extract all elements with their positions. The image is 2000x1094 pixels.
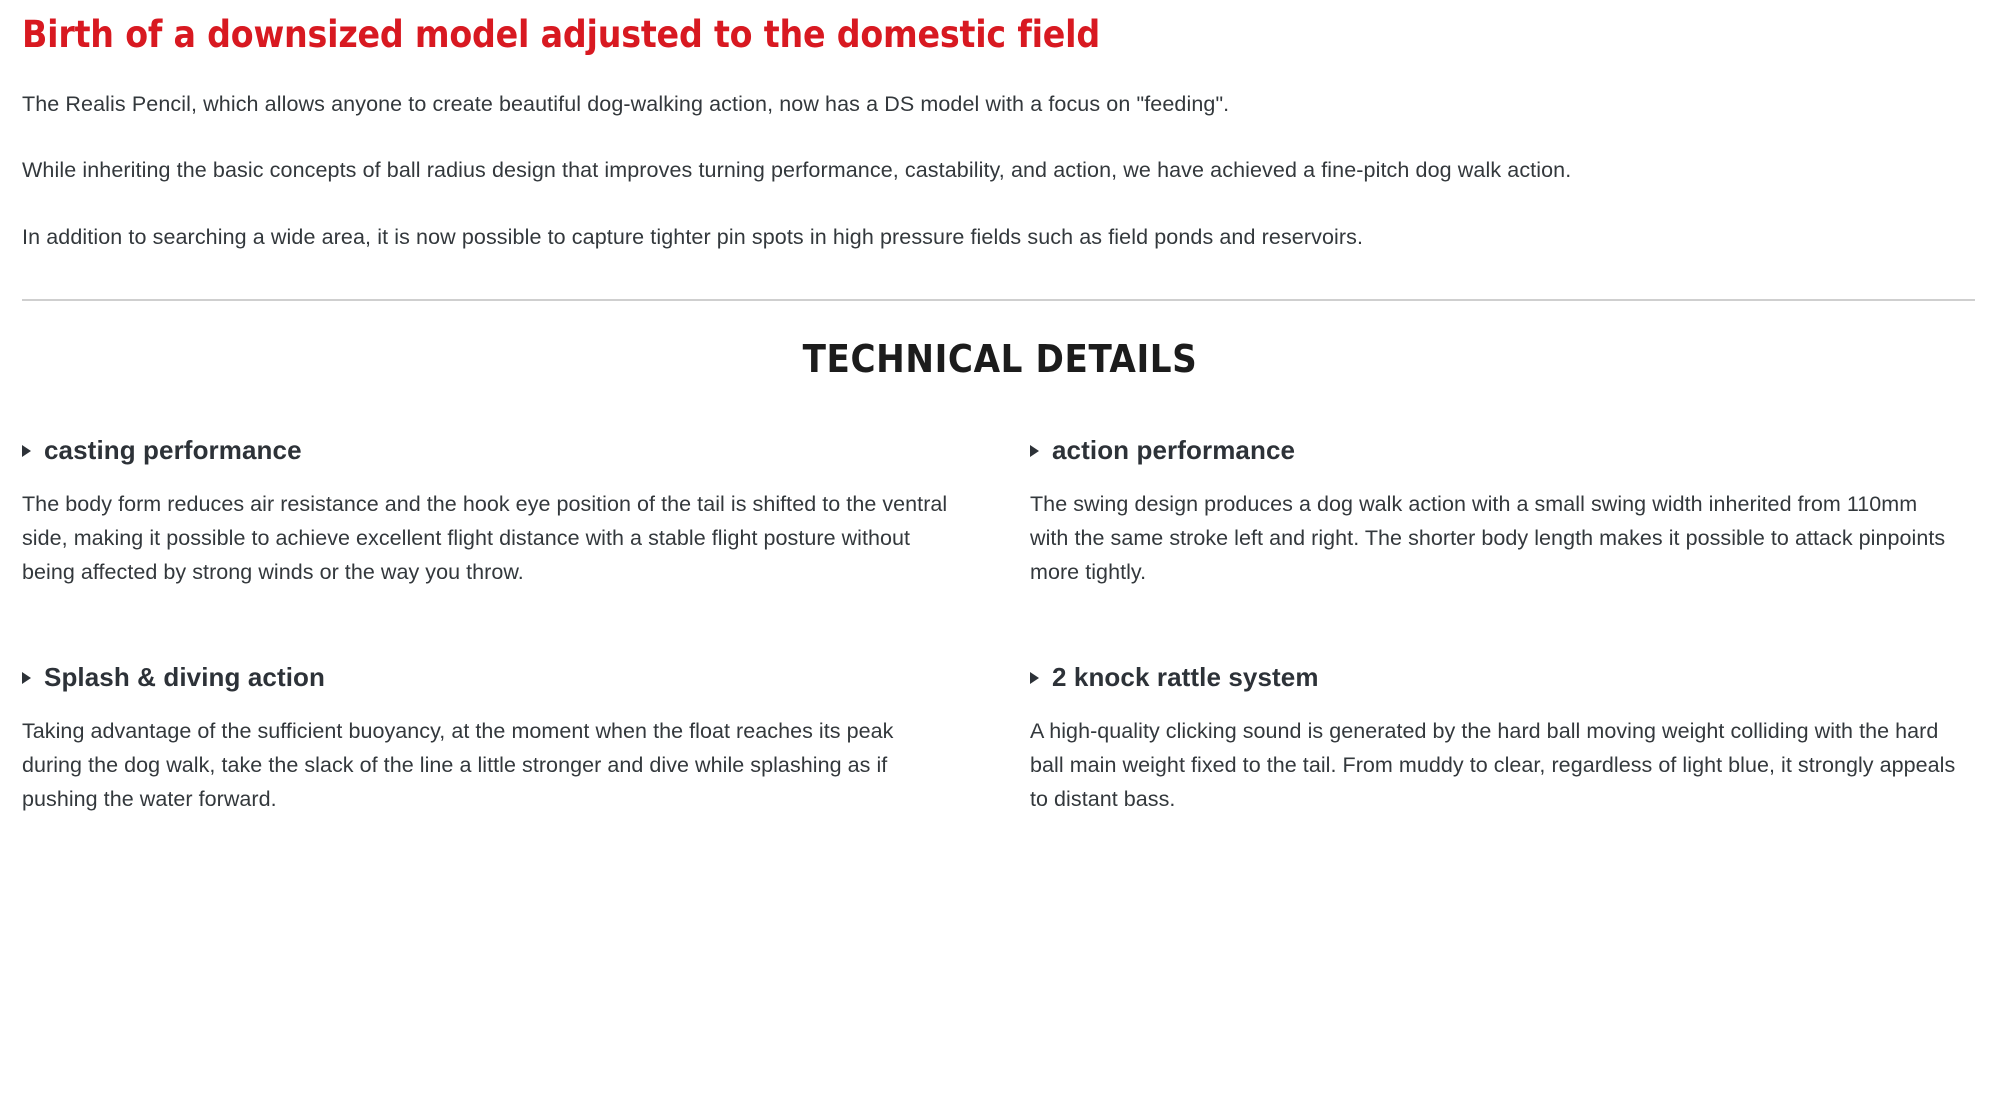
intro-paragraph-1: The Realis Pencil, which allows anyone t… [22,87,1962,122]
feature-title-casting-performance: casting performance [22,435,970,466]
feature-block-splash-diving-action: Splash & diving action Taking advantage … [22,662,1030,817]
feature-title-splash-diving-action: Splash & diving action [22,662,970,693]
feature-title-label: casting performance [44,435,302,466]
feature-block-casting-performance: casting performance The body form reduce… [22,435,1030,590]
technical-details-heading: TECHNICAL DETAILS [22,301,1978,381]
triangle-right-icon [22,445,31,457]
feature-title-label: action performance [1052,435,1295,466]
page-title: Birth of a downsized model adjusted to t… [22,0,1978,57]
triangle-right-icon [1030,445,1039,457]
feature-block-knock-rattle-system: 2 knock rattle system A high-quality cli… [1030,662,1975,817]
feature-body-knock-rattle-system: A high-quality clicking sound is generat… [1030,715,1960,817]
intro-paragraphs: The Realis Pencil, which allows anyone t… [22,57,1978,255]
feature-body-splash-diving-action: Taking advantage of the sufficient buoya… [22,715,952,817]
feature-block-action-performance: action performance The swing design prod… [1030,435,1975,590]
triangle-right-icon [22,672,31,684]
feature-title-label: 2 knock rattle system [1052,662,1319,693]
triangle-right-icon [1030,672,1039,684]
intro-paragraph-2: While inheriting the basic concepts of b… [22,153,1958,188]
feature-body-casting-performance: The body form reduces air resistance and… [22,488,952,590]
technical-details-grid: casting performance The body form reduce… [22,435,1978,817]
intro-paragraph-3: In addition to searching a wide area, it… [22,220,1962,255]
feature-title-action-performance: action performance [1030,435,1975,466]
feature-body-action-performance: The swing design produces a dog walk act… [1030,488,1960,590]
product-detail-page: Birth of a downsized model adjusted to t… [0,0,2000,1094]
feature-title-knock-rattle-system: 2 knock rattle system [1030,662,1975,693]
feature-title-label: Splash & diving action [44,662,325,693]
